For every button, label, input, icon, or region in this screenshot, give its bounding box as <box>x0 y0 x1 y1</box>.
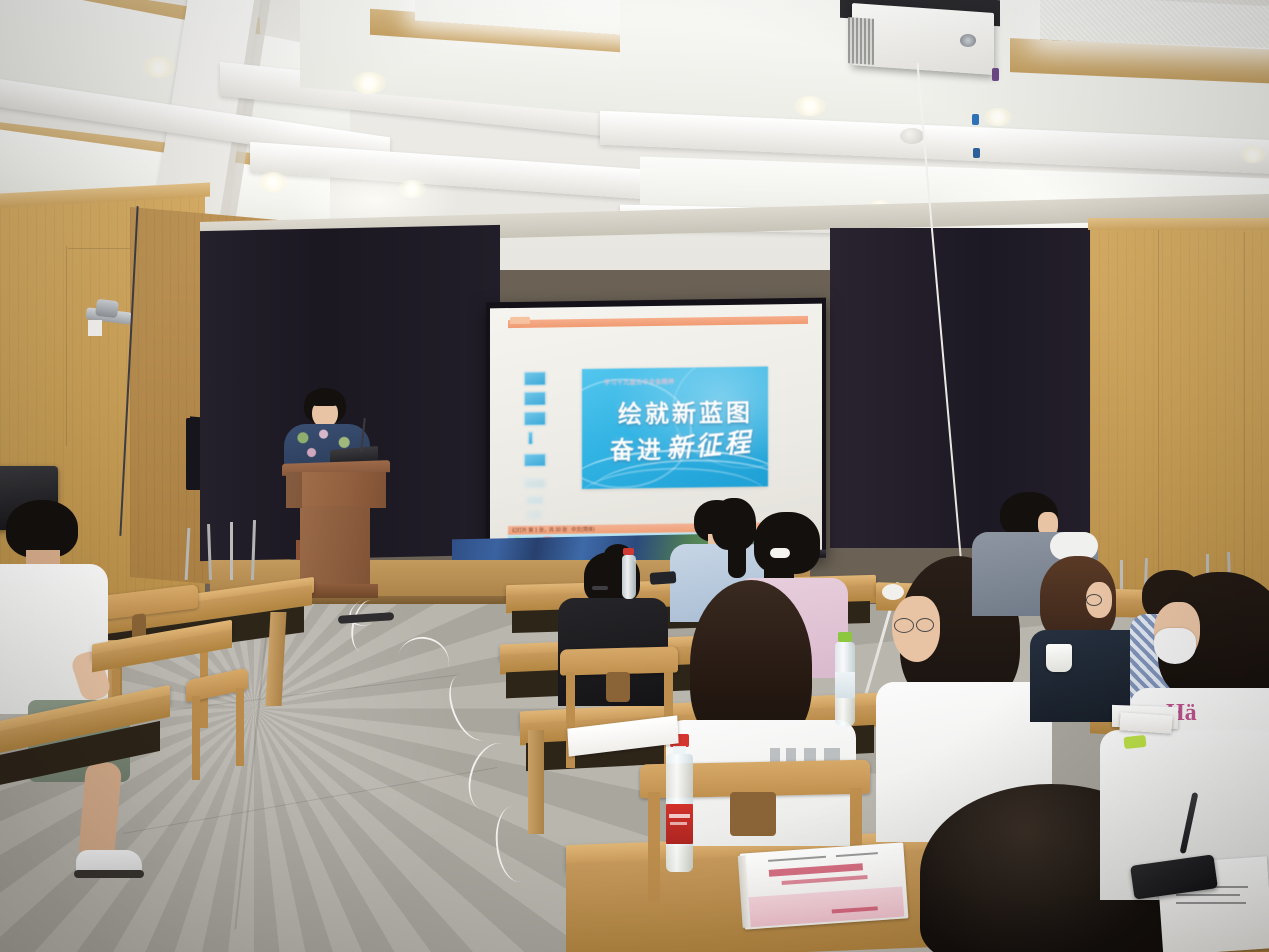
glasses-icon <box>1086 594 1102 606</box>
slide-thumbnail[interactable] <box>526 496 544 505</box>
smoke-detector-icon <box>900 128 924 144</box>
downlight <box>352 72 386 94</box>
slide-thumbnail[interactable] <box>524 478 546 489</box>
hair-clip-icon <box>592 586 608 590</box>
chair-backrest-slot <box>730 792 776 836</box>
current-slide[interactable]: 学习十九届五中全会精神 绘就新蓝图 奋进 新征程 <box>582 366 768 489</box>
chair-backrest-slot <box>606 672 630 702</box>
lecture-hall-photo: 学习十九届五中全会精神 绘就新蓝图 奋进 新征程 幻灯片 第 1 张，共 30 … <box>0 0 1269 952</box>
cable-connector-icon <box>992 68 999 81</box>
podium-side-shadow <box>286 472 302 508</box>
bottle-cap <box>838 632 852 642</box>
chair-leg <box>648 792 660 902</box>
wall-panel-seam <box>1244 232 1245 602</box>
chair-leg <box>236 688 244 766</box>
wall-panel-seam <box>66 246 67 446</box>
slide-indicator-text: 幻灯片 第 1 张，共 30 张 <box>512 526 567 534</box>
cable-connector-icon <box>973 148 980 158</box>
cable-connector-icon <box>972 114 979 125</box>
language-text: 中文(简体) <box>571 526 594 533</box>
bottle-cap <box>623 548 634 555</box>
desk-leg <box>528 730 544 834</box>
slide-thumbnail[interactable] <box>524 454 546 467</box>
ceiling-skylight <box>1040 0 1269 48</box>
paper-sheet[interactable] <box>1119 712 1172 734</box>
booklet[interactable] <box>740 842 909 929</box>
student-leg <box>78 761 123 864</box>
student-shoe-sole <box>74 870 144 878</box>
water-bottle[interactable] <box>620 548 638 600</box>
slide-thumbnail[interactable] <box>524 372 546 386</box>
slide-header-text: 学习十九届五中全会精神 <box>604 377 674 387</box>
downlight <box>258 172 288 192</box>
wall-camera-head <box>95 299 119 319</box>
glasses-icon <box>916 618 934 632</box>
wall-panel-seam <box>1158 230 1159 610</box>
bottle-label-text <box>670 822 687 825</box>
ppt-ribbon-bar[interactable] <box>508 316 808 328</box>
wall-trim <box>1088 218 1269 230</box>
device-icon[interactable] <box>650 571 677 585</box>
paper-cup[interactable] <box>1046 644 1072 672</box>
downlight <box>1240 146 1266 163</box>
water-bottle[interactable] <box>662 734 696 874</box>
slide-thumbnail[interactable] <box>526 511 542 519</box>
stacked-chair-legs <box>230 522 233 580</box>
face-mask-icon <box>1154 628 1196 664</box>
bottle-label-text <box>669 814 690 818</box>
paper-text-line <box>1176 894 1240 896</box>
ppt-active-tab[interactable] <box>510 317 530 324</box>
bottle-body <box>622 555 636 599</box>
hair-tie-icon <box>770 548 790 558</box>
paper-text-line <box>1176 902 1246 904</box>
podium-column <box>300 506 370 588</box>
slide-thumbnail[interactable] <box>524 392 546 406</box>
water-bottle[interactable] <box>832 632 858 728</box>
slide-thumbnail[interactable] <box>528 432 533 445</box>
chair-leg <box>192 696 200 780</box>
bottle-label <box>835 672 855 698</box>
downlight <box>142 56 176 78</box>
downlight <box>794 96 826 116</box>
projector-lens <box>960 34 976 47</box>
projector-vent <box>848 17 874 65</box>
wall-camera-bracket <box>88 320 102 336</box>
hair-tie-icon <box>882 584 904 600</box>
presenter-fringe <box>306 390 344 406</box>
downlight <box>984 108 1012 126</box>
slide-thumbnail[interactable] <box>524 412 546 426</box>
highlighter-icon[interactable] <box>1123 735 1146 749</box>
glasses-icon <box>894 618 914 633</box>
